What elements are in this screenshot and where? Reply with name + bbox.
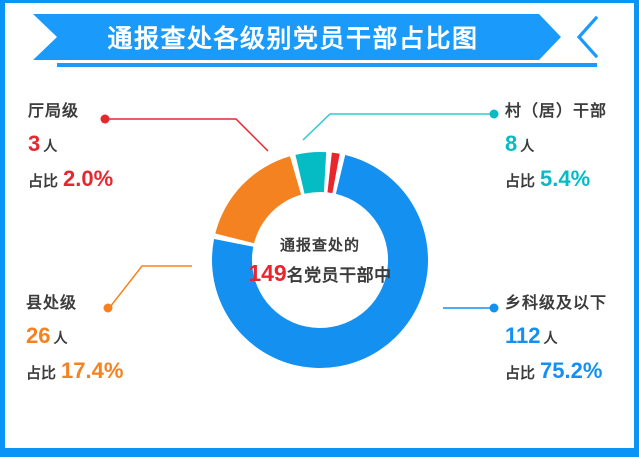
callout-cun-percent-row: 占比5.4% <box>505 168 607 190</box>
callout-xian-title: 县处级 <box>26 296 123 312</box>
callout-cun: 村（居）干部 8人 占比5.4% <box>505 104 607 190</box>
callout-xiang-count-row: 112人 <box>505 325 607 347</box>
callout-xiang: 乡科级及以下 112人 占比75.2% <box>505 296 607 382</box>
center-line-1: 通报查处的 <box>280 234 360 255</box>
callout-xiang-count: 112 <box>505 323 541 348</box>
callout-xian-ratio-label: 占比 <box>26 365 56 382</box>
callout-xian-count-row: 26人 <box>26 325 123 347</box>
callout-cun-ratio-label: 占比 <box>505 173 535 190</box>
center-total-suffix: 名党员干部中 <box>287 266 392 285</box>
callout-ting: 厅局级 3人 占比2.0% <box>28 104 113 190</box>
center-total-number: 149 <box>248 260 286 286</box>
callout-ting-percent: 2.0% <box>63 166 113 191</box>
callout-xian: 县处级 26人 占比17.4% <box>26 296 123 382</box>
callout-ting-count: 3 <box>28 131 40 156</box>
callout-cun-percent: 5.4% <box>540 166 590 191</box>
leader-line-cun <box>303 110 499 141</box>
callout-ting-count-row: 3人 <box>28 133 113 155</box>
callout-cun-unit: 人 <box>520 138 534 154</box>
callout-xiang-percent-row: 占比75.2% <box>505 360 607 382</box>
callout-cun-title: 村（居）干部 <box>505 104 607 120</box>
callout-cun-count-row: 8人 <box>505 133 607 155</box>
callout-ting-percent-row: 占比2.0% <box>28 168 113 190</box>
center-line-2: 149名党员干部中 <box>248 260 391 287</box>
callout-cun-count: 8 <box>505 131 517 156</box>
callout-ting-ratio-label: 占比 <box>28 173 58 190</box>
infographic-canvas: 通报查处各级别党员干部占比图 <box>0 0 639 457</box>
callout-xian-percent: 17.4% <box>61 358 123 383</box>
donut-segment-ting[interactable] <box>295 152 326 194</box>
callout-xian-unit: 人 <box>53 330 67 346</box>
callout-ting-title: 厅局级 <box>28 104 113 120</box>
callout-xian-count: 26 <box>26 323 50 348</box>
callout-ting-unit: 人 <box>43 138 57 154</box>
leader-line-xiang <box>443 304 499 313</box>
donut-center-label: 通报查处的 149名党员干部中 <box>236 224 404 296</box>
leader-line-ting <box>101 115 269 152</box>
callout-xiang-unit: 人 <box>544 330 558 346</box>
callout-xiang-title: 乡科级及以下 <box>505 296 607 312</box>
callout-xiang-percent: 75.2% <box>540 358 602 383</box>
callout-xian-percent-row: 占比17.4% <box>26 360 123 382</box>
callout-xiang-ratio-label: 占比 <box>505 365 535 382</box>
